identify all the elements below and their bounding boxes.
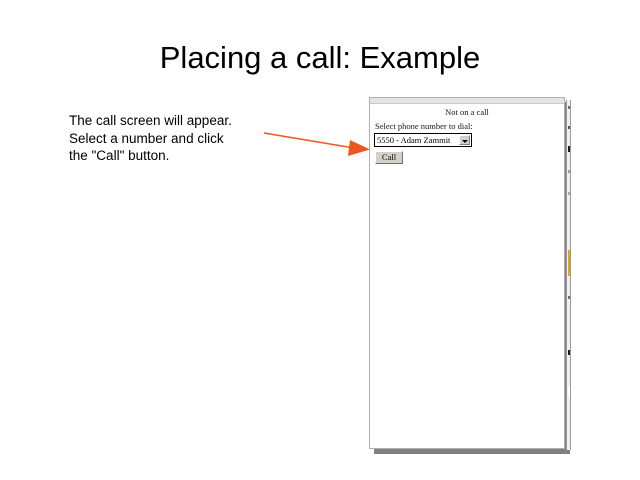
red-arrow-icon bbox=[258, 120, 378, 162]
sliver-mark bbox=[568, 350, 571, 355]
chevron-down-icon[interactable] bbox=[459, 135, 470, 145]
sliver-mark bbox=[568, 296, 571, 299]
sliver-mark bbox=[568, 146, 571, 152]
sliver-mark bbox=[568, 250, 571, 276]
embedded-app-screenshot: Not on a call Select phone number to dia… bbox=[369, 97, 565, 449]
call-button[interactable]: Call bbox=[375, 151, 403, 164]
body-text-block: The call screen will appear. Select a nu… bbox=[69, 112, 274, 165]
phone-number-dropdown-value: 5550 - Adam Zammit bbox=[377, 135, 450, 146]
dial-number-label: Select phone number to dial: bbox=[375, 121, 473, 131]
slide-canvas: Placing a call: Example The call screen … bbox=[0, 0, 640, 480]
call-status-text: Not on a call bbox=[370, 107, 564, 117]
sliver-mark bbox=[568, 386, 571, 396]
app-content-area: Not on a call Select phone number to dia… bbox=[370, 105, 564, 448]
sliver-mark bbox=[568, 106, 571, 109]
body-text-line-3: the "Call" button. bbox=[69, 147, 274, 165]
sliver-mark bbox=[568, 126, 571, 129]
app-titlebar bbox=[370, 98, 564, 104]
sliver-mark bbox=[568, 170, 571, 173]
body-text-line-2: Select a number and click bbox=[69, 130, 274, 148]
body-text-line-1: The call screen will appear. bbox=[69, 112, 274, 130]
phone-number-dropdown[interactable]: 5550 - Adam Zammit bbox=[374, 133, 472, 147]
page-title: Placing a call: Example bbox=[0, 40, 640, 76]
background-window-sliver[interactable] bbox=[566, 100, 571, 450]
sliver-mark bbox=[568, 192, 571, 195]
